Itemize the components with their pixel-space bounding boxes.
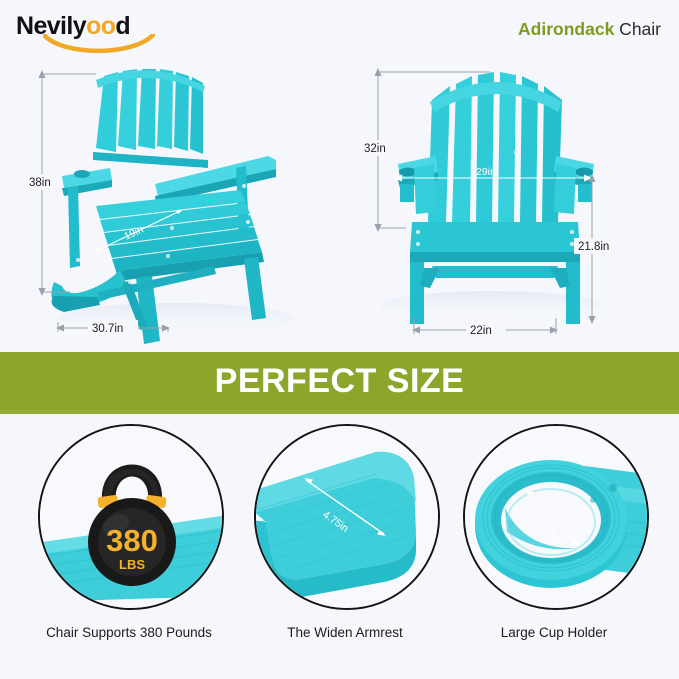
front-chair-illustration: 32in 29in 21.8in [340,56,679,348]
product-title: Adirondack Chair [518,18,661,40]
feature-cup-holder: 3.15in Large Cup Holder [441,424,667,679]
product-title-strong: Adirondack [518,19,614,39]
dim-label-30-7in: 30.7in [92,323,123,335]
feature-armrest: 4.75in The Widen Armrest [232,424,458,679]
kettlebell-icon: 380 LBS [40,426,224,610]
feature-circle-cupholder: 3.15in [463,424,649,610]
badge-unit: LBS [119,557,145,572]
dimension-basewidth-22in: 22in [412,318,558,338]
panel-angled-view: 38in 19in 30.7in [0,56,340,348]
feature-row: 380 LBS Chair Supports 380 Pounds [0,424,679,679]
chair-back-slats-front [428,72,562,222]
badge-number: 380 [106,523,158,558]
feature-circle-armrest: 4.75in [254,424,440,610]
feature-weight-capacity: 380 LBS Chair Supports 380 Pounds [16,424,242,679]
dim-label-38in: 38in [29,177,51,189]
feature-circle-weight: 380 LBS [38,424,224,610]
dim-label-22in: 22in [470,325,492,337]
feature-caption-cupholder: Large Cup Holder [441,624,667,642]
armrest-icon: 4.75in [256,426,440,610]
angled-chair-illustration: 38in 19in 30.7in [0,56,340,348]
product-title-light: Chair [614,19,661,39]
feature-caption-weight: Chair Supports 380 Pounds [16,624,242,642]
dim-label-32in: 32in [364,143,386,155]
logo-smile-icon [43,34,155,56]
header: Nevilyood Adirondack Chair [0,0,679,58]
dimension-panels: 38in 19in 30.7in [0,56,679,348]
dim-label-29in: 29in [476,166,496,178]
panel-front-view: 32in 29in 21.8in [340,56,679,348]
banner-title: PERFECT SIZE [215,362,465,400]
chair-back-slats [96,69,205,154]
brand-logo: Nevilyood [16,8,176,52]
dim-label-21-8in: 21.8in [578,241,609,253]
cup-holder-icon: 3.15in [465,426,649,610]
perfect-size-banner: PERFECT SIZE [0,352,679,414]
infographic-page: Nevilyood Adirondack Chair [0,0,679,679]
feature-caption-armrest: The Widen Armrest [232,624,458,642]
